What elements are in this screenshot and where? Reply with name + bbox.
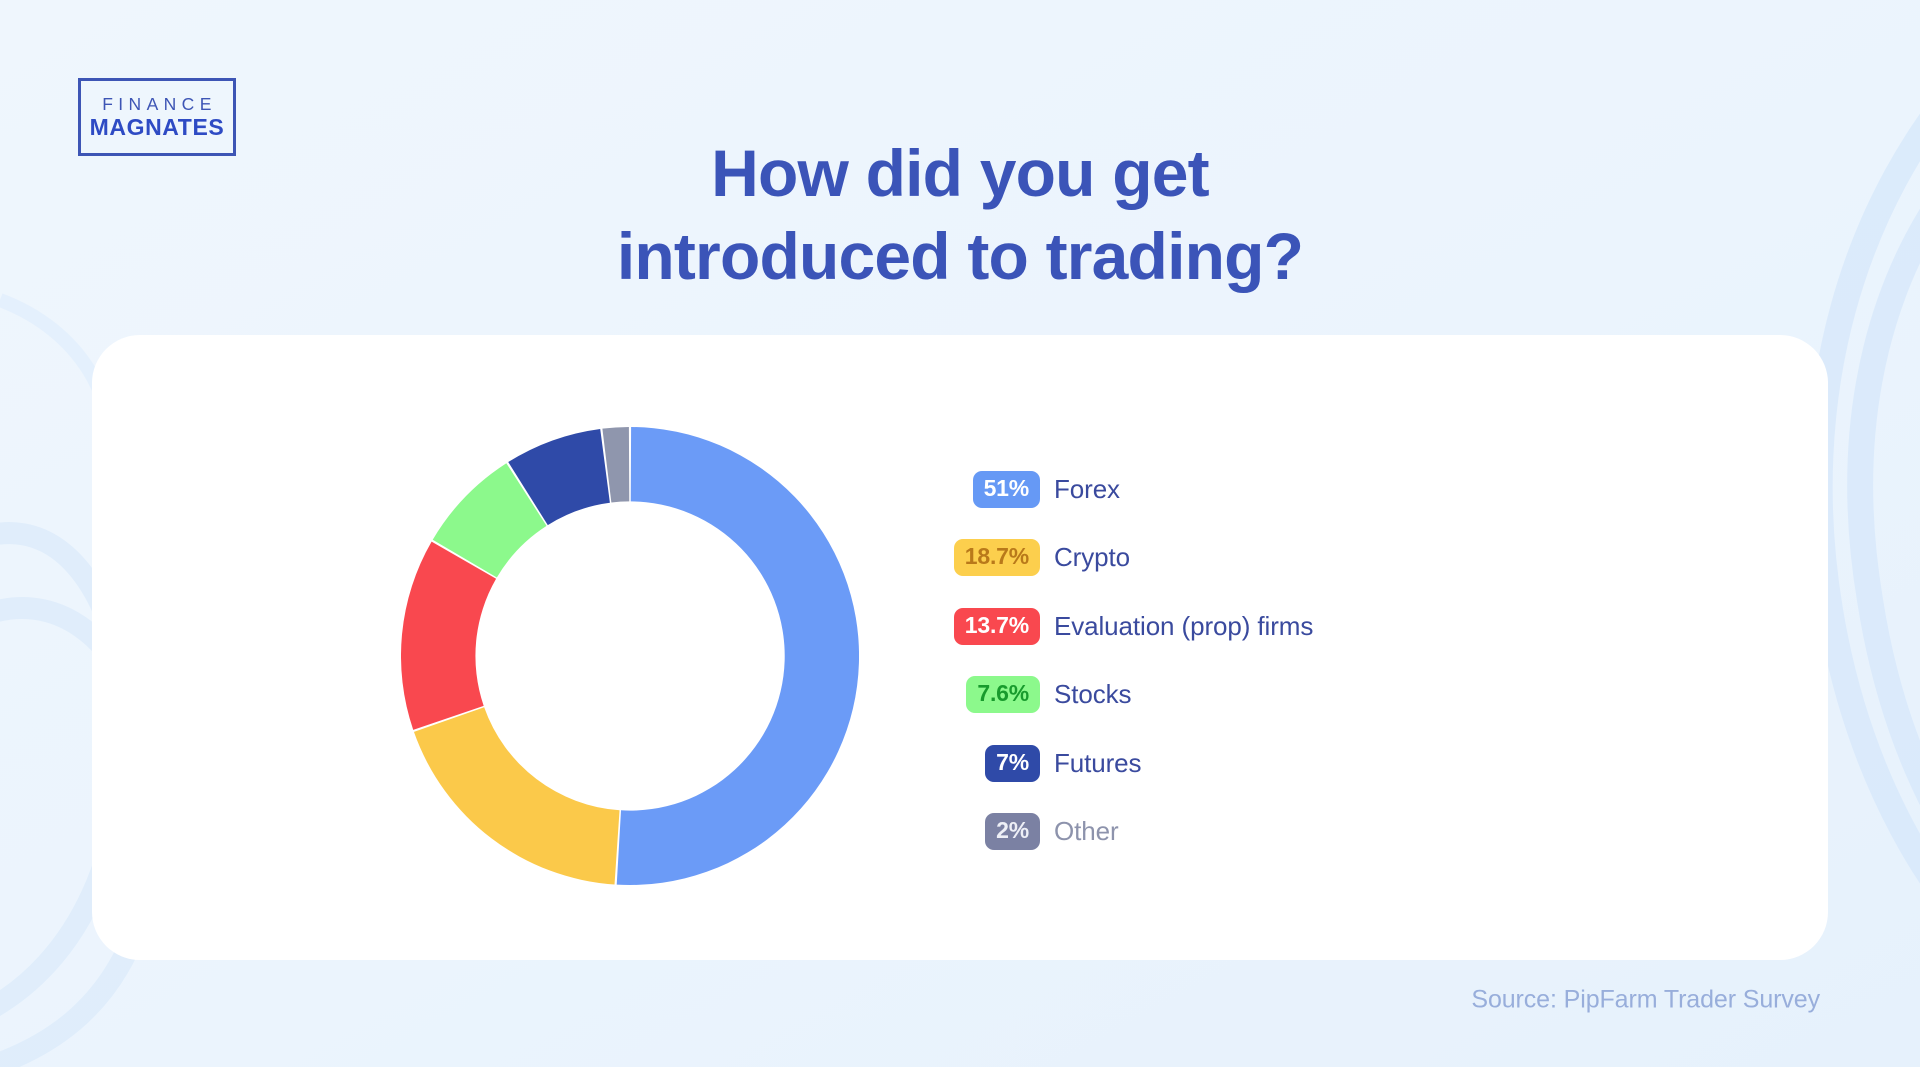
legend-percent-badge: 13.7% — [954, 608, 1040, 645]
donut-slice-crypto — [414, 707, 620, 884]
legend-percent-badge: 7% — [985, 745, 1040, 782]
legend-item-evaluation-prop-firms: 13.7%Evaluation (prop) firms — [940, 592, 1560, 661]
legend-label: Crypto — [1054, 542, 1130, 573]
legend-label: Futures — [1054, 748, 1141, 779]
legend-badge-cell: 7% — [940, 745, 1040, 782]
legend-badge-cell: 2% — [940, 813, 1040, 850]
donut-chart-svg — [401, 427, 859, 885]
donut-slice-evaluation-prop-firms — [401, 542, 496, 730]
legend-percent-badge: 2% — [985, 813, 1040, 850]
legend-label: Forex — [1054, 474, 1120, 505]
legend-label: Other — [1054, 816, 1119, 847]
legend-badge-cell: 13.7% — [940, 608, 1040, 645]
page-title-line2: introduced to trading? — [0, 215, 1920, 298]
legend-item-other: 2%Other — [940, 798, 1560, 867]
brand-logo-line1: FINANCE — [97, 94, 217, 114]
page-title-line1: How did you get — [0, 132, 1920, 215]
legend-percent-badge: 18.7% — [954, 539, 1040, 576]
legend-item-stocks: 7.6%Stocks — [940, 661, 1560, 730]
legend-badge-cell: 51% — [940, 471, 1040, 508]
page-title: How did you get introduced to trading? — [0, 132, 1920, 298]
legend-item-forex: 51%Forex — [940, 455, 1560, 524]
legend-item-crypto: 18.7%Crypto — [940, 524, 1560, 593]
legend-item-futures: 7%Futures — [940, 729, 1560, 798]
legend-badge-cell: 18.7% — [940, 539, 1040, 576]
donut-slice-forex — [617, 427, 859, 885]
legend-label: Stocks — [1054, 679, 1131, 710]
legend-label: Evaluation (prop) firms — [1054, 611, 1313, 642]
chart-legend: 51%Forex18.7%Crypto13.7%Evaluation (prop… — [940, 455, 1560, 866]
donut-chart — [401, 427, 859, 885]
legend-percent-badge: 51% — [973, 471, 1040, 508]
source-caption: Source: PipFarm Trader Survey — [1471, 986, 1820, 1015]
legend-badge-cell: 7.6% — [940, 676, 1040, 713]
legend-percent-badge: 7.6% — [966, 676, 1040, 713]
